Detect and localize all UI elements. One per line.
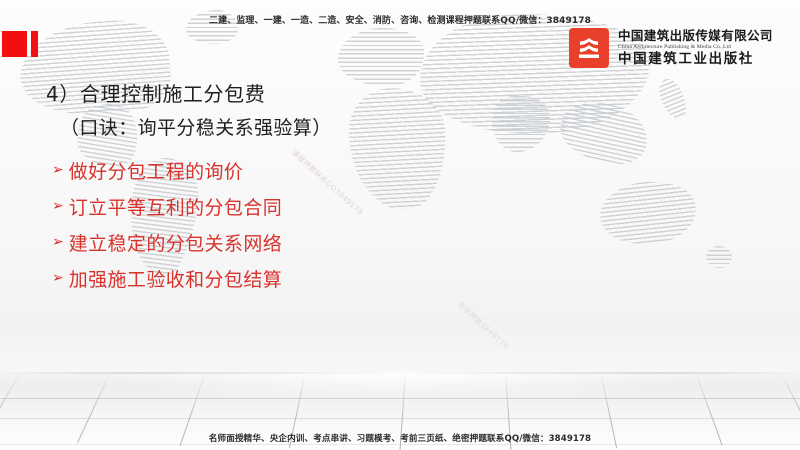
list-item-label: 加强施工验收和分包结算 [69, 265, 282, 292]
publisher-logo: 中国建筑出版传媒有限公司 China Architecture Publishi… [569, 27, 797, 69]
list-item: ➢ 做好分包工程的询价 [52, 152, 572, 188]
footer-promo-text: 名师面授精华、央企内训、考点串讲、习题模考、考前三页纸、绝密押题联系QQ/微信：… [0, 432, 800, 444]
watermark-text: 考前押题3849178 [455, 300, 511, 351]
arrow-bullet-icon: ➢ [52, 163, 64, 177]
list-item: ➢ 建立稳定的分包关系网络 [52, 224, 572, 260]
list-item: ➢ 加强施工验收和分包结算 [52, 260, 572, 296]
list-item-label: 做好分包工程的询价 [69, 157, 244, 184]
slide-subtitle-mnemonic: （口诀：询平分稳关系强验算） [60, 113, 332, 140]
publisher-company-name-cn: 中国建筑出版传媒有限公司 [618, 29, 773, 43]
publisher-logo-text: 中国建筑出版传媒有限公司 China Architecture Publishi… [618, 28, 773, 68]
bullet-list: ➢ 做好分包工程的询价 ➢ 订立平等互利的分包合同 ➢ 建立稳定的分包关系网络 … [52, 152, 572, 296]
map-region-europe [338, 28, 424, 86]
open-book-logo-icon [569, 28, 609, 68]
floor-glow [0, 372, 800, 412]
map-region-new-zealand [706, 246, 732, 268]
map-region-australia [597, 177, 699, 249]
decor-red-block-small [31, 31, 38, 57]
floor-gridline-h [0, 418, 800, 419]
list-item: ➢ 订立平等互利的分包合同 [52, 188, 572, 224]
list-item-label: 订立平等互利的分包合同 [69, 193, 282, 220]
map-region-india [492, 96, 550, 152]
floor-gridline-h [0, 398, 800, 399]
arrow-bullet-icon: ➢ [52, 271, 64, 285]
publisher-company-name-en: China Architecture Publishing & Media Co… [618, 43, 773, 51]
publisher-imprint-name-cn: 中国建筑工业出版社 [618, 51, 773, 67]
map-region-japan [655, 75, 691, 122]
presentation-slide: 二建、监理、一建、一造、二造、安全、消防、咨询、检测课程押题联系QQ/微信：38… [0, 0, 800, 450]
header-promo-text: 二建、监理、一建、一造、二造、安全、消防、咨询、检测课程押题联系QQ/微信：38… [0, 13, 800, 26]
arrow-bullet-icon: ➢ [52, 199, 64, 213]
arrow-bullet-icon: ➢ [52, 235, 64, 249]
slide-title: 4）合理控制施工分包费 [46, 78, 265, 107]
list-item-label: 建立稳定的分包关系网络 [69, 229, 282, 256]
decor-red-block-large [2, 31, 27, 57]
